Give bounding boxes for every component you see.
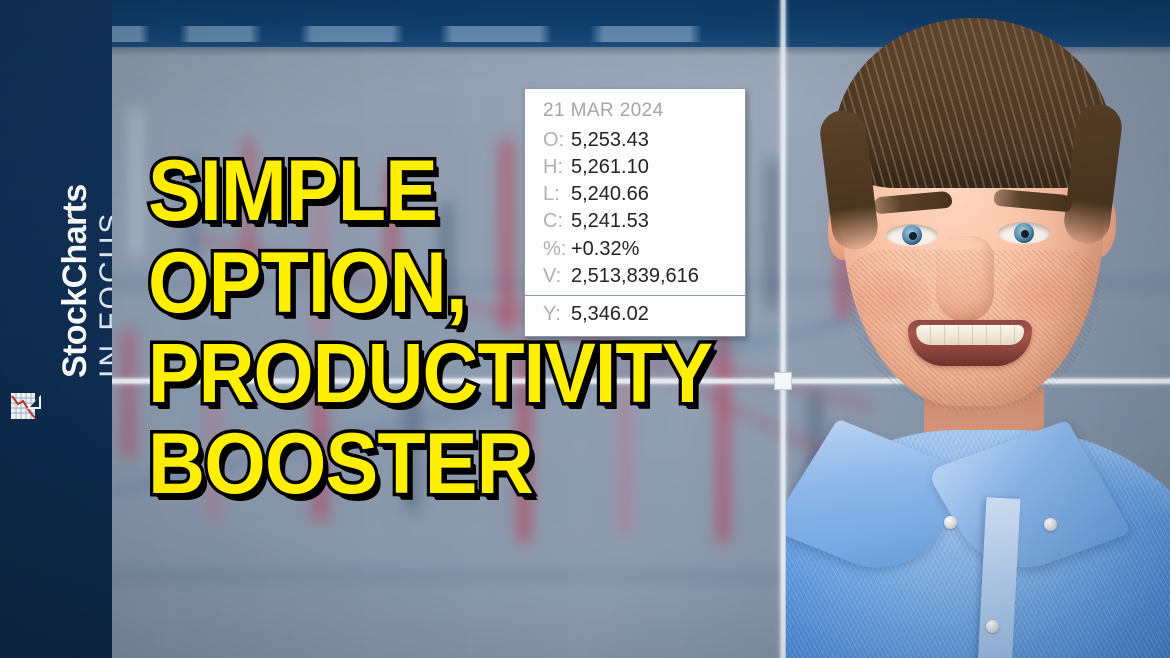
stockcharts-grid-arrow-icon xyxy=(10,392,42,422)
brand-name: StockCharts xyxy=(56,184,95,378)
eye-right xyxy=(998,222,1050,244)
collar-button-right xyxy=(1044,518,1057,531)
collar-button-left xyxy=(944,516,957,529)
title-line-1: SIMPLE xyxy=(148,150,737,233)
ohlc-date-label: 21 MAR 2024 xyxy=(543,98,731,124)
title-line-2: OPTION, xyxy=(148,242,737,325)
iris-right xyxy=(1014,223,1034,243)
thumbnail-title: SIMPLE OPTION, PRODUCTIVITY BOOSTER xyxy=(148,150,788,514)
eye-left xyxy=(886,224,938,246)
video-thumbnail: 21 MAR 2024 O: 5,253.43 H: 5,261.10 L: 5… xyxy=(0,0,1170,658)
presenter-teeth xyxy=(916,325,1024,345)
title-line-3: PRODUCTIVITY xyxy=(148,333,737,414)
title-line-4: BOOSTER xyxy=(148,423,737,506)
brand-sidebar: StockCharts IN FOCUS xyxy=(0,0,112,658)
pupil-left xyxy=(909,232,917,240)
brand-tagline: IN FOCUS xyxy=(94,211,112,378)
candlestick xyxy=(123,330,134,457)
presenter-mouth xyxy=(908,320,1032,366)
iris-left xyxy=(902,225,922,245)
presenter-nose xyxy=(936,236,994,322)
pupil-right xyxy=(1021,230,1029,238)
shirt-button xyxy=(986,620,999,633)
presenter-photo xyxy=(786,0,1170,658)
candlestick xyxy=(132,107,142,255)
